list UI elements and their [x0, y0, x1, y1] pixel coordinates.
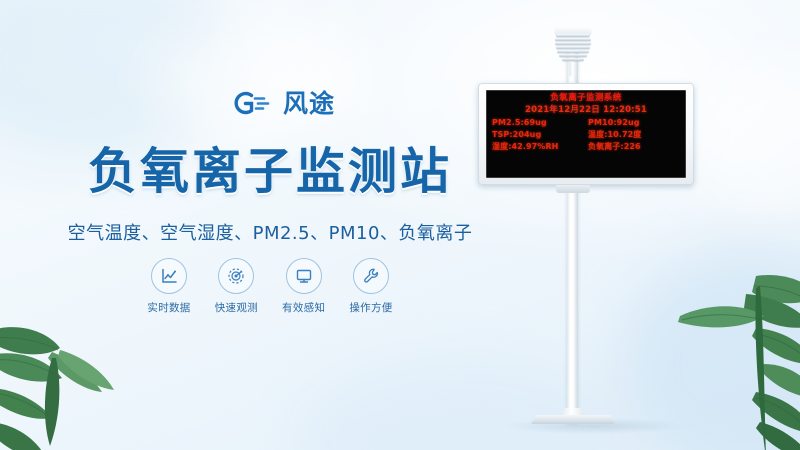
- background-blotch: [150, 20, 370, 140]
- feature-list: 实时数据 快速观测 有效感知: [140, 258, 400, 315]
- feature-label: 快速观测: [207, 300, 265, 315]
- feature-label: 实时数据: [140, 300, 198, 315]
- feature-label: 有效感知: [275, 300, 333, 315]
- page-title: 负氧离子监测站: [0, 132, 540, 203]
- feature-item-realtime-data[interactable]: 实时数据: [140, 258, 198, 315]
- radar-observation-icon: [218, 258, 254, 294]
- led-screen: 负氧离子监测系统 2021年12月22日 12:20:51 PM2.5:69ug…: [486, 90, 686, 178]
- led-reading-humidity: 湿度:42.97%RH: [492, 142, 584, 153]
- green-leaf-plant-icon: [0, 296, 156, 450]
- feature-label: 操作方便: [342, 300, 400, 315]
- feature-item-easy-operation[interactable]: 操作方便: [342, 258, 400, 315]
- radiation-shield-sensor-icon: [551, 26, 595, 70]
- led-reading-negative-ion: 负氧离子:226: [588, 142, 680, 153]
- wind-g-logo-icon: [232, 88, 276, 118]
- poster-canvas: 风途 负氧离子监测站 空气温度、空气湿度、PM2.5、PM10、负氧离子 实时数…: [0, 0, 800, 450]
- led-reading-tsp: TSP:204ug: [492, 130, 584, 141]
- feature-item-fast-observation[interactable]: 快速观测: [207, 258, 265, 315]
- page-subtitle: 空气温度、空气湿度、PM2.5、PM10、负氧离子: [0, 219, 540, 245]
- wrench-icon: [353, 258, 389, 294]
- brand-name: 风途: [283, 91, 335, 116]
- led-screen-title: 负氧离子监测系统: [492, 94, 680, 104]
- line-chart-icon: [151, 258, 187, 294]
- brand-logo: 风途: [232, 88, 335, 118]
- display-mount-bracket: [556, 185, 590, 193]
- background-blotch: [690, 60, 800, 220]
- feature-item-effective-sensing[interactable]: 有效感知: [275, 258, 333, 315]
- led-reading-temperature: 温度:10.72度: [588, 130, 680, 141]
- led-reading-pm25: PM2.5:69ug: [492, 118, 584, 129]
- led-screen-datetime: 2021年12月22日 12:20:51: [492, 105, 680, 116]
- led-display-panel[interactable]: 负氧离子监测系统 2021年12月22日 12:20:51 PM2.5:69ug…: [478, 83, 694, 185]
- led-readings-grid: PM2.5:69ug PM10:92ug TSP:204ug 温度:10.72度…: [492, 118, 680, 153]
- monitor-screen-icon: [286, 258, 322, 294]
- base-plate-icon: [531, 408, 615, 425]
- led-reading-pm10: PM10:92ug: [588, 118, 680, 129]
